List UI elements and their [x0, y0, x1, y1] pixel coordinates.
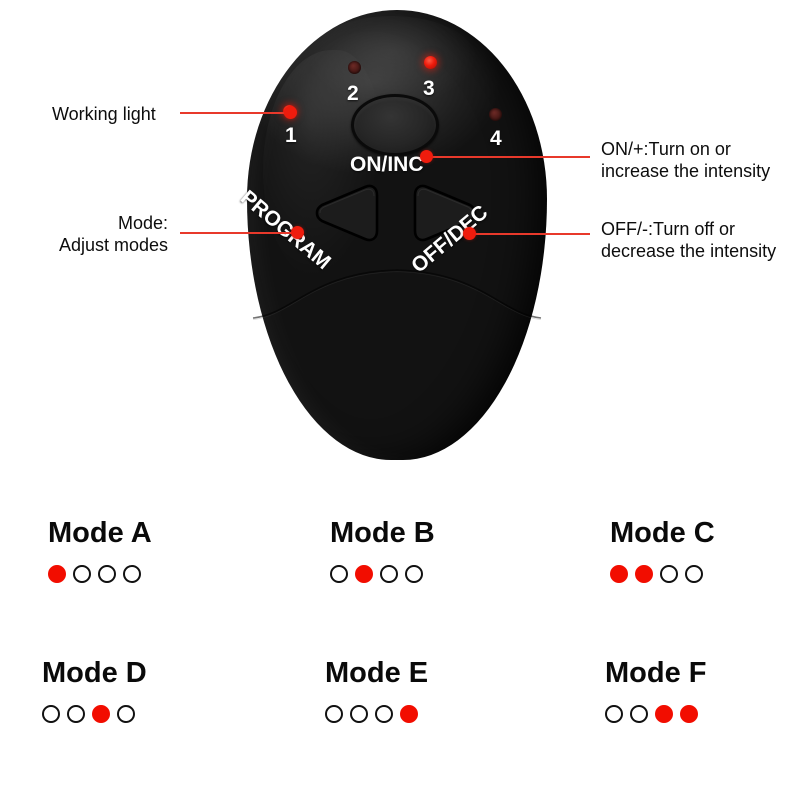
mode-f-led-2: [630, 705, 648, 723]
mode-c-led-4: [685, 565, 703, 583]
device-led-3: [424, 56, 437, 69]
device-led-label-2: 2: [347, 82, 359, 106]
callout-off-dec-leader: [472, 233, 590, 235]
mode-led-row-c: [610, 565, 800, 583]
device-led-label-3: 3: [423, 77, 435, 101]
mode-cell-a: Mode A: [48, 516, 308, 583]
mode-title-b: Mode B: [330, 516, 590, 550]
mode-c-led-1: [610, 565, 628, 583]
mode-led-row-e: [325, 705, 585, 723]
mode-cell-e: Mode E: [325, 656, 585, 723]
mode-e-led-1: [325, 705, 343, 723]
device-led-2: [348, 61, 361, 74]
mode-d-led-2: [67, 705, 85, 723]
mode-a-led-3: [98, 565, 116, 583]
callout-working-light-dot: [284, 106, 297, 119]
callout-mode-adjust-dot: [291, 226, 304, 239]
callout-on-inc-line1: ON/+:Turn on or: [601, 138, 731, 160]
callout-working-light-leader: [180, 112, 290, 114]
mode-a-led-2: [73, 565, 91, 583]
callout-mode-adjust-line1: Mode:: [18, 212, 168, 234]
center-oval-button[interactable]: [351, 94, 439, 156]
device-led-label-4: 4: [490, 127, 502, 151]
mode-f-led-1: [605, 705, 623, 723]
mode-title-f: Mode F: [605, 656, 800, 690]
mode-c-led-2: [635, 565, 653, 583]
callout-on-inc-leader: [428, 156, 590, 158]
callout-off-dec-line1: OFF/-:Turn off or: [601, 218, 735, 240]
mode-cell-c: Mode C: [610, 516, 800, 583]
mode-b-led-3: [380, 565, 398, 583]
mode-f-led-3: [655, 705, 673, 723]
mode-b-led-2: [355, 565, 373, 583]
left-arrow-button[interactable]: [310, 182, 382, 244]
mode-c-led-3: [660, 565, 678, 583]
callout-off-dec-dot: [463, 227, 476, 240]
mode-a-led-4: [123, 565, 141, 583]
mode-e-led-4: [400, 705, 418, 723]
mode-e-led-2: [350, 705, 368, 723]
mode-title-e: Mode E: [325, 656, 585, 690]
callout-mode-adjust-leader: [180, 232, 297, 234]
callout-on-inc-line2: increase the intensity: [601, 160, 770, 182]
mode-led-row-b: [330, 565, 590, 583]
callout-off-dec-line2: decrease the intensity: [601, 240, 776, 262]
mode-title-c: Mode C: [610, 516, 800, 550]
mode-f-led-4: [680, 705, 698, 723]
mode-e-led-3: [375, 705, 393, 723]
callout-working-light-label: Working light: [52, 103, 156, 125]
device-led-4: [489, 108, 502, 121]
mode-led-row-a: [48, 565, 308, 583]
mode-led-row-d: [42, 705, 302, 723]
mode-d-led-3: [92, 705, 110, 723]
mode-cell-d: Mode D: [42, 656, 302, 723]
callout-on-inc-dot: [420, 150, 433, 163]
mode-d-led-1: [42, 705, 60, 723]
product-diagram: 2 3 1 4 ON/INC PROGRAM OFF/DEC Working l…: [0, 0, 800, 800]
mode-title-d: Mode D: [42, 656, 302, 690]
mode-led-row-f: [605, 705, 800, 723]
mode-b-led-1: [330, 565, 348, 583]
mode-cell-f: Mode F: [605, 656, 800, 723]
mode-cell-b: Mode B: [330, 516, 590, 583]
device-led-label-1: 1: [285, 124, 297, 148]
callout-mode-adjust-line2: Adjust modes: [18, 234, 168, 256]
mode-title-a: Mode A: [48, 516, 308, 550]
on-inc-silkscreen: ON/INC: [350, 153, 424, 177]
mode-b-led-4: [405, 565, 423, 583]
mode-d-led-4: [117, 705, 135, 723]
mode-a-led-1: [48, 565, 66, 583]
mode-legend: Mode A Mode B Mode C: [0, 498, 800, 778]
